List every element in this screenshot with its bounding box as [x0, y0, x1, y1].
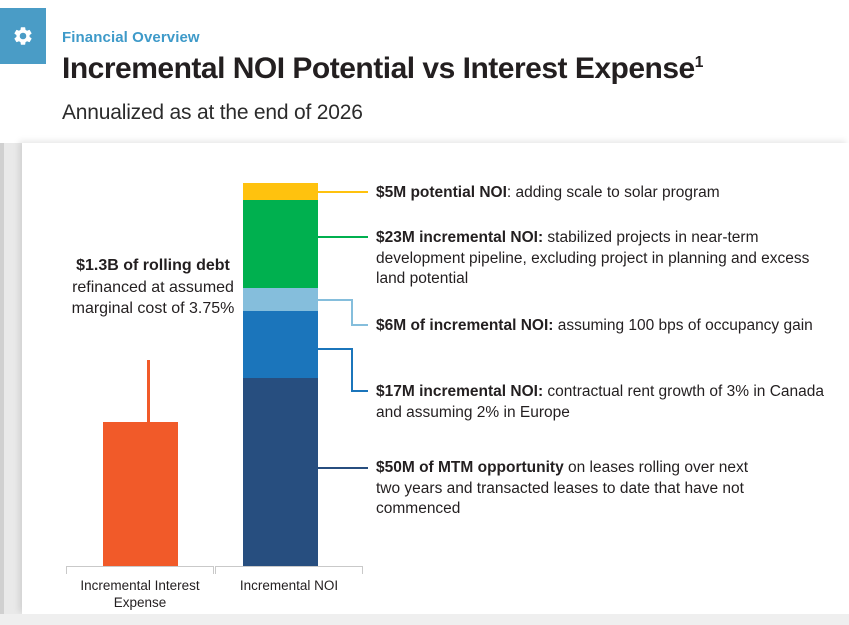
card-bottom-strip	[0, 614, 849, 625]
annotation-development: $23M incremental NOI: stabilized project…	[376, 228, 836, 290]
page-title-footnote-marker: 1	[695, 54, 703, 71]
gear-icon-tile[interactable]	[0, 8, 46, 64]
annotation-rolling-debt-rest: refinanced at assumed marginal cost of 3…	[72, 279, 235, 318]
chart-card	[22, 143, 849, 614]
annotation-mtm: $50M of MTM opportunity on leases rollin…	[376, 458, 776, 520]
gear-icon	[12, 25, 34, 47]
annotation-rolling-debt: $1.3B of rolling debt refinanced at assu…	[40, 255, 266, 320]
page-subtitle: Annualized as at the end of 2026	[62, 101, 363, 125]
page-title: Incremental NOI Potential vs Interest Ex…	[62, 52, 703, 86]
annotation-development-bold: $23M incremental NOI:	[376, 229, 543, 246]
page-title-text: Incremental NOI Potential vs Interest Ex…	[62, 52, 695, 85]
left-gutter-edge	[0, 143, 4, 614]
annotation-occupancy: $6M of incremental NOI: assuming 100 bps…	[376, 316, 816, 337]
annotation-mtm-bold: $50M of MTM opportunity	[376, 459, 564, 476]
annotation-rent-growth: $17M incremental NOI: contractual rent g…	[376, 382, 836, 423]
annotation-rolling-debt-bold: $1.3B of rolling debt	[76, 257, 230, 274]
annotation-rent-growth-bold: $17M incremental NOI:	[376, 383, 543, 400]
annotation-solar: $5M potential NOI: adding scale to solar…	[376, 183, 842, 204]
annotation-solar-rest: : adding scale to solar program	[507, 184, 720, 201]
page-header: Financial Overview Incremental NOI Poten…	[0, 0, 849, 143]
page-eyebrow: Financial Overview	[62, 29, 200, 46]
annotation-solar-bold: $5M potential NOI	[376, 184, 507, 201]
annotation-occupancy-rest: assuming 100 bps of occupancy gain	[553, 317, 812, 334]
annotation-occupancy-bold: $6M of incremental NOI:	[376, 317, 553, 334]
